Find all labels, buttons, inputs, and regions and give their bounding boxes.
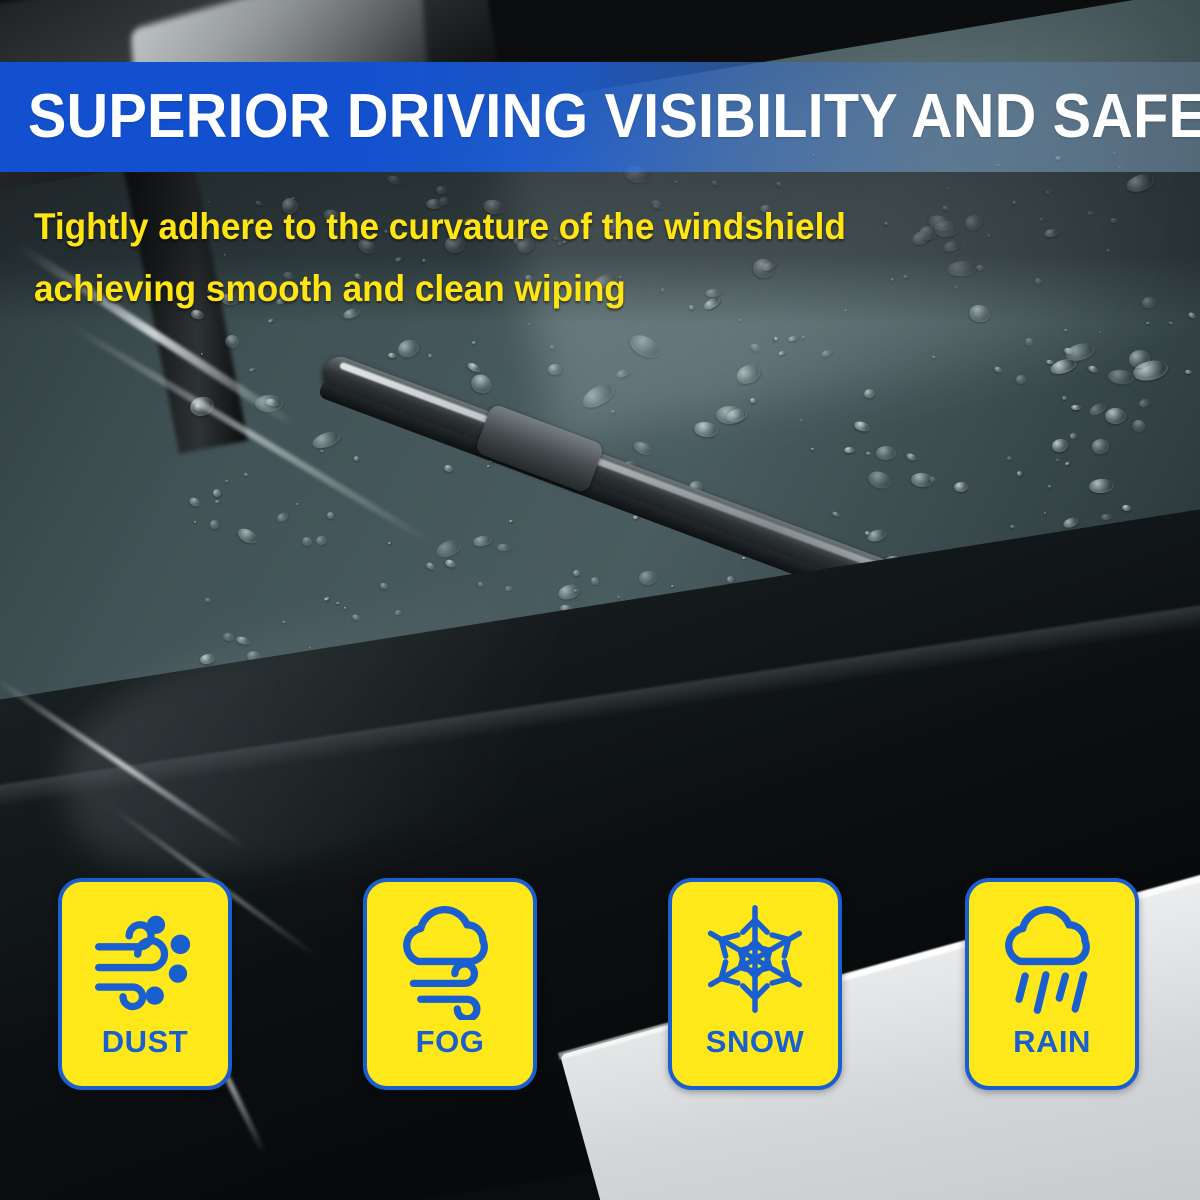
headline-banner: SUPERIOR DRIVING VISIBILITY AND SAFETY bbox=[0, 62, 1200, 172]
water-droplet bbox=[1146, 322, 1150, 324]
water-droplet bbox=[905, 452, 918, 462]
water-droplet bbox=[209, 519, 219, 529]
water-droplet bbox=[436, 186, 447, 194]
water-droplet bbox=[1051, 437, 1070, 453]
water-droplet bbox=[466, 361, 481, 374]
water-droplet bbox=[866, 469, 893, 492]
badge-label: FOG bbox=[416, 1024, 485, 1060]
water-droplet bbox=[1185, 370, 1193, 375]
water-droplet bbox=[1099, 331, 1102, 334]
water-droplet bbox=[1035, 278, 1043, 284]
water-droplet bbox=[811, 447, 814, 450]
water-droplet bbox=[1091, 438, 1110, 455]
water-droplet bbox=[802, 336, 805, 339]
water-droplet bbox=[734, 361, 765, 388]
water-droplet bbox=[1141, 296, 1156, 309]
water-droplet bbox=[788, 334, 799, 342]
water-droplet bbox=[1101, 514, 1112, 520]
water-droplet bbox=[610, 410, 614, 413]
water-droplet bbox=[749, 342, 762, 352]
water-droplet bbox=[386, 174, 404, 186]
water-droplet bbox=[1088, 364, 1099, 373]
water-droplet bbox=[1064, 328, 1068, 330]
feature-badge-row: DUST FOG bbox=[0, 878, 1200, 1092]
water-droplet bbox=[1109, 218, 1118, 224]
water-droplet bbox=[1010, 525, 1015, 528]
water-droplet bbox=[244, 473, 248, 476]
water-droplet bbox=[388, 352, 396, 358]
water-droplet bbox=[875, 446, 895, 460]
water-droplet bbox=[1055, 458, 1058, 461]
water-droplet bbox=[627, 331, 664, 362]
water-droplet bbox=[1071, 405, 1081, 410]
feature-badge-snow[interactable]: SNOW bbox=[668, 878, 842, 1090]
page-title: SUPERIOR DRIVING VISIBILITY AND SAFETY bbox=[0, 86, 1200, 148]
water-droplet bbox=[1062, 396, 1068, 400]
water-droplet bbox=[1064, 461, 1069, 465]
water-droplet bbox=[1130, 418, 1147, 435]
water-droplet bbox=[1188, 312, 1197, 320]
water-droplet bbox=[1007, 456, 1013, 461]
water-droplet bbox=[1043, 512, 1046, 515]
water-droplet bbox=[749, 398, 756, 403]
water-droplet bbox=[1069, 432, 1078, 441]
water-droplet bbox=[578, 380, 617, 413]
subtitle-line-2: achieving smooth and clean wiping bbox=[34, 258, 984, 320]
water-droplet bbox=[1105, 408, 1126, 424]
water-droplet bbox=[1124, 171, 1156, 195]
water-droplet bbox=[548, 364, 563, 376]
water-droplet bbox=[1024, 337, 1035, 348]
water-droplet bbox=[215, 500, 220, 504]
water-droplet bbox=[1122, 504, 1132, 511]
water-droplet bbox=[528, 323, 530, 325]
badge-label: RAIN bbox=[1013, 1024, 1091, 1060]
water-droplet bbox=[550, 345, 555, 349]
water-droplet bbox=[931, 356, 935, 359]
water-droplet bbox=[1043, 228, 1059, 239]
water-droplet bbox=[1048, 485, 1052, 489]
feature-badge-dust[interactable]: DUST bbox=[58, 878, 232, 1090]
water-droplet bbox=[710, 180, 719, 187]
water-droplet bbox=[820, 348, 833, 358]
badge-label: SNOW bbox=[706, 1024, 804, 1060]
water-droplet bbox=[1168, 321, 1172, 324]
water-droplet bbox=[853, 420, 871, 433]
water-droplet bbox=[694, 420, 720, 438]
water-droplet bbox=[911, 473, 934, 489]
water-droplet bbox=[778, 350, 787, 357]
water-droplet bbox=[1016, 375, 1027, 385]
water-droplet bbox=[994, 365, 1003, 373]
water-droplet bbox=[428, 353, 433, 358]
water-droplet bbox=[776, 181, 783, 187]
water-droplet bbox=[468, 371, 495, 396]
subtitle-block: Tightly adhere to the curvature of the w… bbox=[34, 196, 984, 320]
water-droplet bbox=[954, 481, 969, 492]
snowflake-icon bbox=[692, 898, 818, 1020]
water-droplet bbox=[844, 447, 855, 453]
water-droplet bbox=[1016, 471, 1022, 477]
cloud-fog-icon bbox=[387, 898, 513, 1020]
water-droplet bbox=[946, 187, 949, 190]
water-droplet bbox=[800, 418, 804, 421]
badge-label: DUST bbox=[102, 1024, 188, 1060]
water-droplet bbox=[1105, 248, 1110, 253]
water-droplet bbox=[1087, 211, 1094, 215]
water-droplet bbox=[716, 406, 744, 424]
cloud-rain-icon bbox=[989, 898, 1115, 1020]
water-droplet bbox=[774, 337, 779, 342]
water-droplet bbox=[615, 369, 630, 379]
wind-dust-icon bbox=[82, 898, 208, 1020]
water-droplet bbox=[1040, 217, 1043, 220]
feature-badge-rain[interactable]: RAIN bbox=[965, 878, 1139, 1090]
water-droplet bbox=[396, 337, 421, 359]
water-droplet bbox=[225, 480, 229, 482]
water-droplet bbox=[673, 180, 678, 184]
water-droplet bbox=[1138, 397, 1151, 409]
water-droplet bbox=[866, 452, 871, 456]
water-droplet bbox=[201, 353, 204, 356]
water-droplet bbox=[205, 598, 212, 603]
water-droplet bbox=[1088, 478, 1114, 494]
water-droplet bbox=[1046, 190, 1051, 194]
product-marketing-image: SUPERIOR DRIVING VISIBILITY AND SAFETY T… bbox=[0, 0, 1200, 1200]
water-droplet bbox=[864, 388, 877, 399]
water-droplet bbox=[224, 334, 239, 349]
water-droplet bbox=[632, 439, 655, 458]
water-droplet bbox=[188, 496, 201, 508]
water-droplet bbox=[236, 525, 260, 546]
water-droplet bbox=[1108, 368, 1135, 385]
water-droplet bbox=[1012, 201, 1017, 206]
water-droplet bbox=[987, 234, 991, 238]
water-droplet bbox=[249, 367, 256, 373]
water-droplet bbox=[831, 511, 839, 518]
water-droplet bbox=[472, 341, 477, 345]
feature-badge-fog[interactable]: FOG bbox=[363, 878, 537, 1090]
subtitle-line-1: Tightly adhere to the curvature of the w… bbox=[34, 196, 984, 258]
water-droplet bbox=[193, 521, 196, 524]
water-droplet bbox=[212, 488, 222, 498]
